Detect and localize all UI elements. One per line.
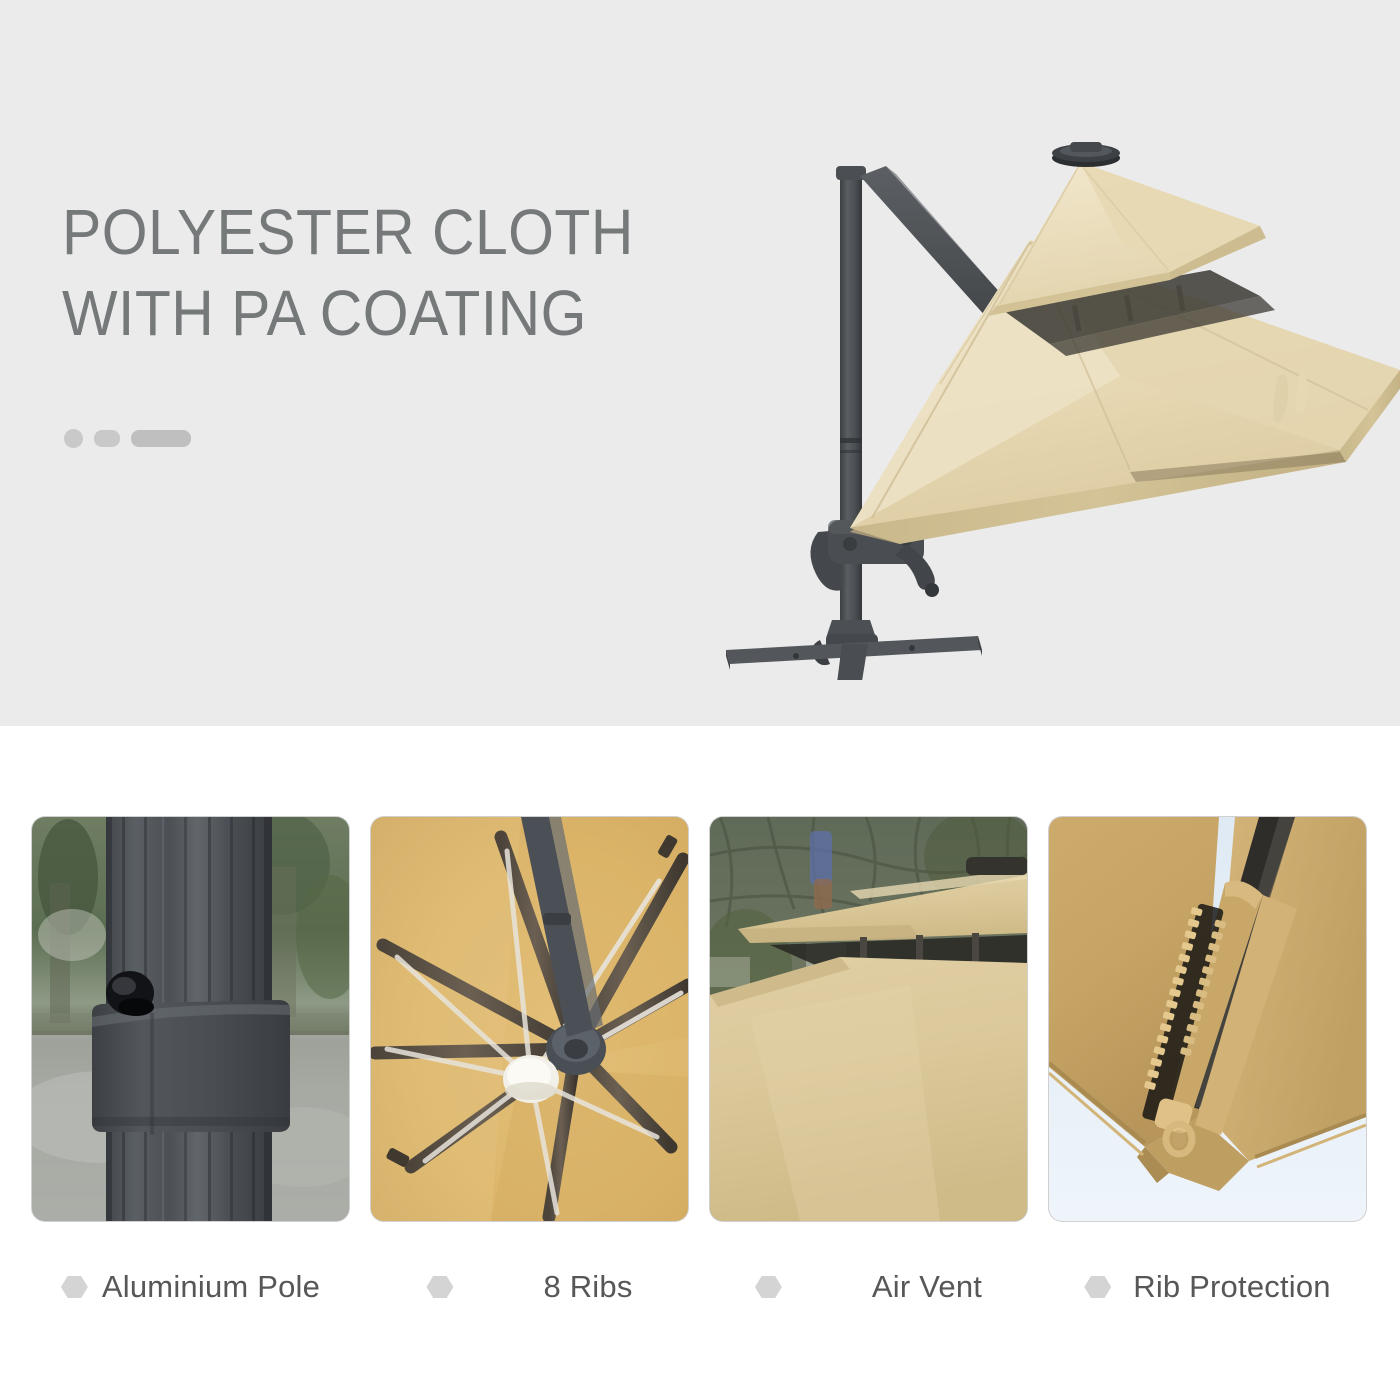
decorative-short-bar [94, 430, 120, 447]
feature-label-rib-protection: Rib Protection [1049, 1252, 1366, 1322]
hero-banner: POLYESTER CLOTH WITH PA COATING [0, 0, 1400, 726]
hexagon-bullet-icon [61, 1275, 88, 1299]
feature-label-row: Aluminium Pole 8 Ribs Air Vent Rib Prote… [32, 1252, 1368, 1322]
feature-photo-grid [32, 817, 1368, 1221]
feature-photo-rib-protection[interactable] [1049, 817, 1366, 1221]
feature-photo-8-ribs[interactable] [371, 817, 688, 1221]
hexagon-bullet-icon [755, 1275, 782, 1299]
page-title: POLYESTER CLOTH WITH PA COATING [62, 192, 761, 355]
product-image-umbrella [700, 120, 1400, 680]
hexagon-bullet-icon [426, 1275, 453, 1299]
hexagon-bullet-icon [1084, 1275, 1111, 1299]
feature-label-text: Aluminium Pole [102, 1269, 320, 1305]
feature-label-air-vent: Air Vent [710, 1252, 1027, 1322]
feature-photo-air-vent[interactable] [710, 817, 1027, 1221]
feature-label-text: 8 Ribs [543, 1269, 632, 1305]
feature-label-8-ribs: 8 Ribs [371, 1252, 688, 1322]
feature-label-text: Air Vent [872, 1269, 982, 1305]
feature-photo-aluminium-pole[interactable] [32, 817, 349, 1221]
feature-label-text: Rib Protection [1133, 1269, 1331, 1305]
decorative-dashes [64, 429, 191, 448]
feature-label-aluminium-pole: Aluminium Pole [32, 1252, 349, 1322]
decorative-dot [64, 429, 83, 448]
decorative-long-bar [131, 430, 191, 447]
